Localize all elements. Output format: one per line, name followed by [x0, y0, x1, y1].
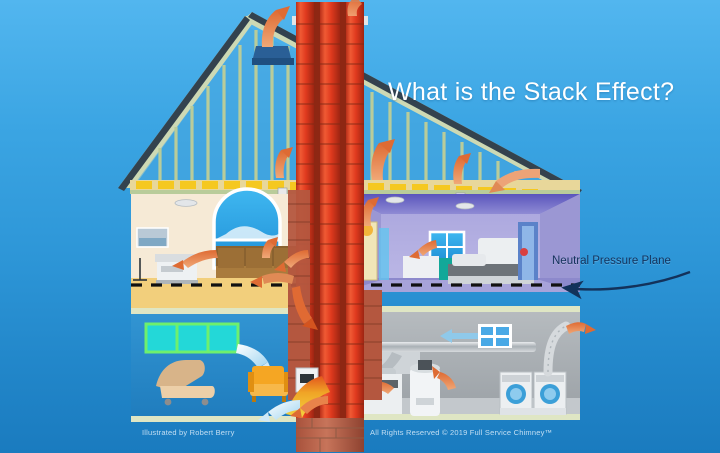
living-room: [131, 189, 301, 312]
house-cutaway-diagram: [0, 0, 720, 453]
bedroom: [343, 194, 580, 292]
copyright-notice: All Rights Reserved © 2019 Full Service …: [370, 428, 552, 437]
page-title: What is the Stack Effect?: [388, 78, 698, 107]
ceiling-light: [456, 203, 474, 209]
ceiling-light: [386, 197, 404, 203]
dresser: [403, 256, 439, 278]
utility-window: [478, 324, 512, 348]
illustration-canvas: What is the Stack Effect? Neutral Pressu…: [0, 0, 720, 453]
npp-leader-arrow: [566, 272, 690, 289]
water-heater: [410, 360, 440, 416]
ceiling-light: [175, 200, 197, 207]
roof-vent: [252, 46, 294, 65]
basement-windows: [146, 324, 238, 352]
chimney-footing: [296, 418, 364, 452]
bedroom-door: [518, 222, 538, 280]
illustrator-credit: Illustrated by Robert Berry: [142, 428, 235, 437]
neutral-pressure-plane-label: Neutral Pressure Plane: [552, 255, 671, 267]
